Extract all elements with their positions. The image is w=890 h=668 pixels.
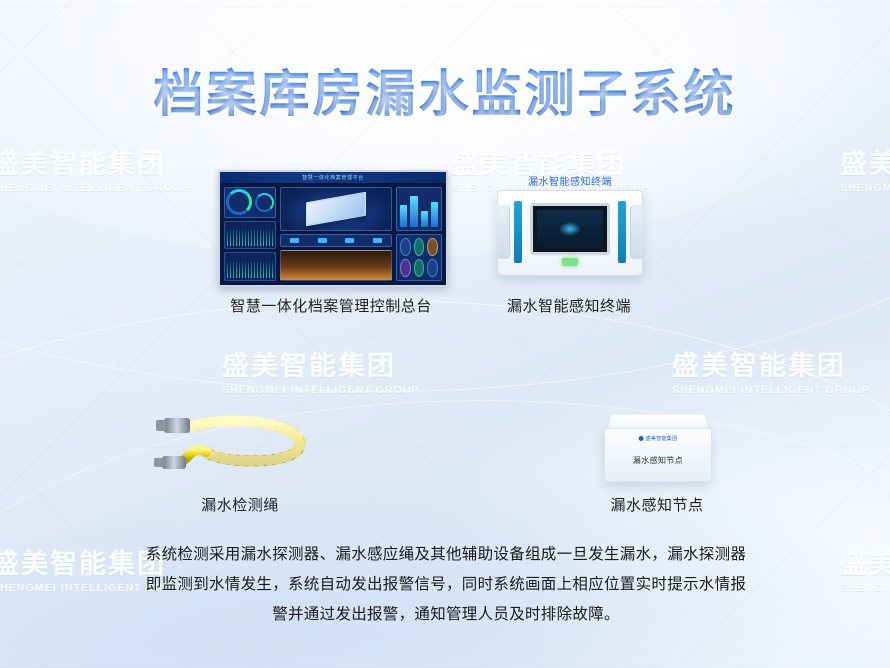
watermark: 盛美智能集团 SHENGMEI INTELLIGENT GROUP (840, 550, 890, 594)
leak-detection-rope (150, 408, 330, 488)
terminal-status-led (562, 258, 578, 266)
watermark-en: SHENGMEI INTELLIGENT GROUP (840, 582, 890, 594)
gauge-widget (224, 187, 276, 218)
waveform-widget (224, 221, 276, 250)
brand-dot-icon (639, 436, 644, 441)
rope-illustration-icon (150, 408, 330, 488)
node-brand-text: 盛美智能集团 (646, 436, 678, 442)
status-icon (414, 259, 425, 277)
console-left-column (224, 187, 276, 281)
node-caption: 漏水感知节点 (557, 494, 757, 515)
terminal-device-label: 漏水智能感知终端 (498, 173, 642, 188)
watermark-en: SHENGMEI INTELLIGENT GROUP (672, 384, 870, 396)
watermark-cn: 盛美智能集团 (0, 150, 190, 178)
terminal-caption: 漏水智能感知终端 (459, 295, 679, 316)
console-right-column (396, 187, 442, 281)
room-model-icon (306, 192, 366, 227)
status-icon-grid (396, 234, 442, 281)
kpi-item (318, 238, 327, 243)
status-icon (427, 259, 438, 277)
footer-line-3: 警并通过发出报警，通知管理人员及时排除故障。 (96, 600, 796, 630)
kpi-item (373, 238, 382, 243)
room-3d-view (280, 187, 392, 231)
terminal-accent-strip-right (618, 201, 626, 263)
camera-preview (280, 250, 392, 281)
node-brand-logo: 盛美智能集团 (639, 435, 678, 442)
watermark-en: SHENGMEI INTELLIGENT GROUP (840, 182, 890, 194)
watermark-cn: 盛美智能集团 (222, 352, 420, 380)
footer-line-1: 系统检测采用漏水探测器、漏水感应绳及其他辅助设备组成一旦发生漏水，漏水探测器 (96, 540, 796, 570)
watermark: 盛美智能集团 SHENGMEI INTELLIGENT GROUP (0, 150, 190, 194)
console-center-column (280, 187, 392, 281)
terminal-accent-strip-left (514, 201, 522, 263)
gauge-ring-small-icon (255, 193, 274, 212)
watermark: 盛美智能集团 SHENGMEI INTELLIGENT GROUP (840, 150, 890, 194)
terminal-screen (530, 203, 610, 255)
watermark-cn: 盛美智能集团 (840, 150, 890, 178)
kpi-item (290, 238, 299, 243)
bar (410, 196, 417, 226)
bar (431, 202, 438, 227)
waveform-widget-2 (224, 252, 276, 281)
terminal-side-panel-right (630, 205, 643, 259)
status-icon (400, 259, 411, 277)
bar-chart-widget (396, 187, 442, 231)
node-face-text: 漏水感知节点 (605, 455, 711, 466)
node-front-face: 盛美智能集团 漏水感知节点 (604, 428, 712, 482)
footer-line-2: 即监测到水情发生，系统自动发出报警信号，同时系统画面上相应位置实时提示水情报 (96, 570, 796, 600)
footer-description: 系统检测采用漏水探测器、漏水感应绳及其他辅助设备组成一旦发生漏水，漏水探测器 即… (96, 540, 796, 630)
watermark: 盛美智能集团 SHENGMEI INTELLIGENT GROUP (672, 352, 870, 396)
status-icon (427, 238, 438, 256)
bar (421, 211, 428, 227)
console-screen-title: 智慧一体化档案管理平台 (302, 174, 364, 181)
watermark: 盛美智能集团 SHENGMEI INTELLIGENT GROUP (222, 352, 420, 396)
rope-caption: 漏水检测绳 (140, 494, 340, 515)
console-caption: 智慧一体化档案管理控制总台 (181, 295, 481, 316)
gauge-ring-icon (226, 189, 252, 215)
console-body (220, 183, 446, 285)
leak-sensing-node: 盛美智能集团 漏水感知节点 (602, 412, 712, 486)
watermark-cn: 盛美智能集团 (672, 352, 870, 380)
kpi-strip (280, 234, 392, 247)
page-root: 盛美智能集团 SHENGMEI INTELLIGENT GROUP 盛美智能集团… (0, 0, 890, 668)
watermark-en: SHENGMEI INTELLIGENT GROUP (0, 182, 190, 194)
status-icon (414, 238, 425, 256)
console-header-bar: 智慧一体化档案管理平台 (220, 172, 446, 183)
terminal-screen-ui (537, 210, 603, 248)
leak-sensing-terminal: 漏水智能感知终端 (497, 190, 643, 276)
watermark-cn: 盛美智能集团 (840, 550, 890, 578)
status-icon (400, 238, 411, 256)
watermark-en: SHENGMEI INTELLIGENT GROUP (222, 384, 420, 396)
terminal-side-panel-left (497, 205, 510, 259)
console-display: 智慧一体化档案管理平台 (218, 170, 448, 287)
page-title: 档案库房漏水监测子系统 (0, 54, 890, 126)
bar (400, 205, 407, 226)
waveform-icon (227, 262, 273, 278)
kpi-item (345, 238, 354, 243)
waveform-icon (227, 230, 273, 246)
